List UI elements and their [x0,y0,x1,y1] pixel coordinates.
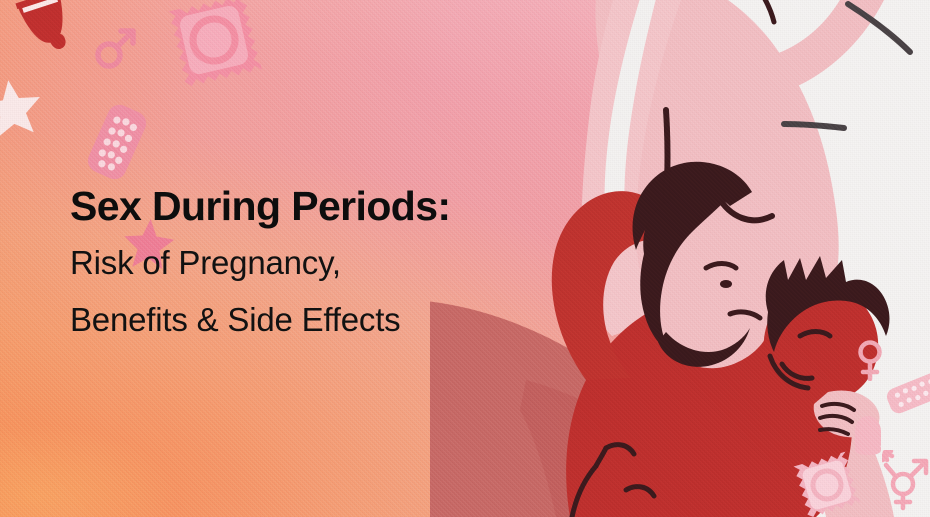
page-subtitle-line-2: Benefits & Side Effects [70,298,590,343]
page-subtitle-line-1: Risk of Pregnancy, [70,241,590,286]
page-title: Sex During Periods: [70,184,590,229]
headline-block: Sex During Periods: Risk of Pregnancy, B… [70,184,590,343]
promo-banner: Sex During Periods: Risk of Pregnancy, B… [0,0,930,517]
